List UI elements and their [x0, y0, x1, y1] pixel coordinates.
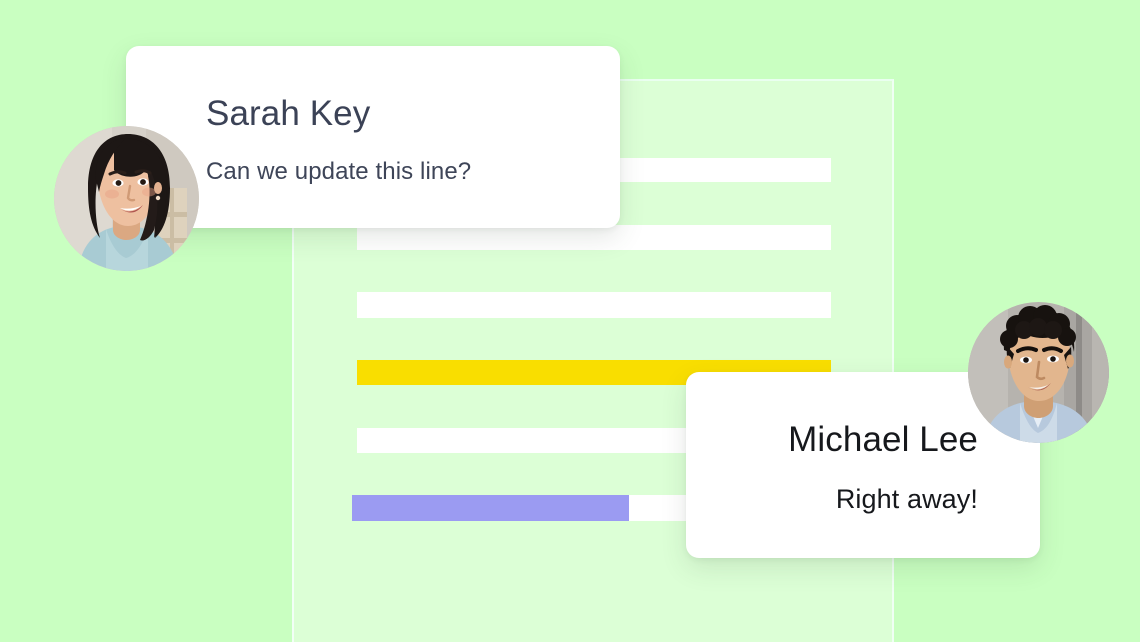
comment-message-text: Right away!: [836, 484, 978, 515]
document-line-6-purple-highlight[interactable]: [352, 495, 629, 521]
collaboration-illustration: Sarah Key Can we update this line?: [0, 0, 1140, 642]
comment-author-name: Michael Lee: [788, 420, 978, 460]
comment-author-name: Sarah Key: [206, 94, 370, 134]
document-line-2[interactable]: [357, 225, 831, 250]
avatar-sarah-key[interactable]: [54, 126, 199, 271]
comment-card-sarah[interactable]: Sarah Key Can we update this line?: [126, 46, 620, 228]
comment-message-text: Can we update this line?: [206, 158, 471, 186]
avatar-michael-lee[interactable]: [968, 302, 1109, 443]
document-line-3[interactable]: [357, 292, 831, 318]
